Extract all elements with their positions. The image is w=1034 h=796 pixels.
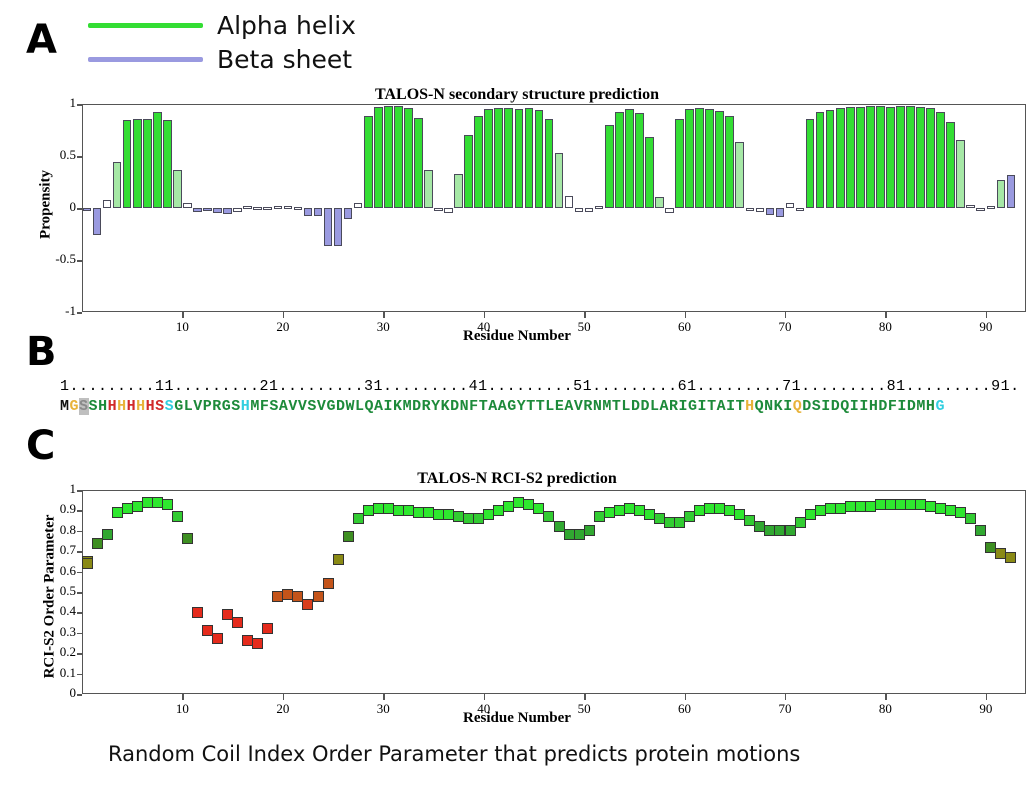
residue-letter: I <box>698 398 708 415</box>
residue-letter: H <box>745 398 755 415</box>
bar <box>926 108 935 208</box>
panel-a-x-tickmark <box>182 312 184 318</box>
data-point <box>182 533 193 544</box>
residue-letter: P <box>203 398 213 415</box>
data-point <box>162 499 173 510</box>
bar <box>294 207 303 210</box>
panel-c-x-axis-title: Residue Number <box>0 710 1034 727</box>
residue-letter: D <box>878 398 888 415</box>
legend-label-alpha-helix: Alpha helix <box>217 11 356 40</box>
bar <box>876 106 885 208</box>
bar <box>454 174 463 208</box>
bar <box>906 106 915 208</box>
residue-letter: D <box>450 398 460 415</box>
panel-a-y-tick-label: 0.5 <box>30 147 76 163</box>
residue-letter: T <box>612 398 622 415</box>
residue-letter: I <box>726 398 736 415</box>
panel-c-x-tickmark <box>484 694 486 700</box>
residue-letter: S <box>165 398 175 415</box>
bar <box>394 106 403 208</box>
bar <box>776 208 785 217</box>
bar <box>103 200 112 208</box>
residue-letter: A <box>564 398 574 415</box>
data-point <box>252 638 263 649</box>
sequence-panel: 1.........11.........21.........31......… <box>60 378 1020 420</box>
residue-letter: D <box>831 398 841 415</box>
panel-c-x-tickmark <box>785 694 787 700</box>
bar <box>374 107 383 208</box>
residue-letter: N <box>593 398 603 415</box>
bar <box>786 203 795 208</box>
residue-letter: T <box>536 398 546 415</box>
bar <box>123 120 132 208</box>
residue-letter: H <box>108 398 118 415</box>
bar <box>796 208 805 211</box>
panel-c-x-tickmark <box>685 694 687 700</box>
bar <box>504 108 513 208</box>
bar <box>203 208 212 211</box>
residue-letter: I <box>850 398 860 415</box>
sequence-ruler: 1.........11.........21.........31......… <box>60 378 1020 398</box>
bar <box>384 106 393 208</box>
data-point <box>965 513 976 524</box>
panel-a-bars <box>82 104 1026 312</box>
residue-letter: F <box>469 398 479 415</box>
residue-letter: R <box>212 398 222 415</box>
bar <box>886 107 895 208</box>
panel-c-x-tickmark <box>584 694 586 700</box>
bar <box>836 108 845 208</box>
residue-letter: V <box>317 398 327 415</box>
data-point <box>1005 552 1016 563</box>
residue-letter: V <box>193 398 203 415</box>
bar <box>274 206 283 209</box>
panel-c-y-tick-label: 0.5 <box>28 583 76 599</box>
bar <box>966 205 975 208</box>
bar <box>685 109 694 208</box>
residue-letter: D <box>412 398 422 415</box>
residue-letter: H <box>241 398 251 415</box>
bar <box>233 208 242 212</box>
residue-letter: K <box>393 398 403 415</box>
panel-c-y-tick-label: 0.2 <box>28 644 76 660</box>
bar <box>605 125 614 208</box>
panel-a-x-tickmark <box>584 312 586 318</box>
residue-letter: H <box>127 398 137 415</box>
bar <box>575 208 584 212</box>
bar <box>595 206 604 209</box>
bar <box>735 142 744 208</box>
data-point <box>102 529 113 540</box>
bar <box>695 108 704 208</box>
residue-letter: M <box>916 398 926 415</box>
bar <box>725 116 734 208</box>
bar <box>896 106 905 208</box>
legend-item-beta-sheet: Beta sheet <box>88 42 388 76</box>
bar <box>404 108 413 208</box>
residue-letter: H <box>146 398 156 415</box>
residue-letter: Y <box>431 398 441 415</box>
residue-letter: I <box>897 398 907 415</box>
bar <box>705 109 714 208</box>
residue-letter: V <box>298 398 308 415</box>
bar <box>525 108 534 208</box>
panel-a-letter: A <box>26 20 57 60</box>
panel-c-x-tickmark <box>986 694 988 700</box>
bar <box>464 135 473 208</box>
panel-a-y-tick-label: 0 <box>30 199 76 215</box>
bar <box>364 116 373 208</box>
residue-letter: D <box>802 398 812 415</box>
bar <box>675 119 684 208</box>
residue-letter: D <box>640 398 650 415</box>
panel-c-y-tick-label: 0.4 <box>28 603 76 619</box>
bar <box>856 107 865 208</box>
bar <box>756 208 765 212</box>
bar <box>474 116 483 208</box>
residue-letter: H <box>869 398 879 415</box>
residue-letter: I <box>679 398 689 415</box>
bar <box>946 122 955 208</box>
bar <box>223 208 232 214</box>
bar <box>253 207 262 210</box>
residue-letter: A <box>279 398 289 415</box>
bar <box>956 140 965 208</box>
residue-letter: M <box>250 398 260 415</box>
bar <box>414 118 423 208</box>
bar <box>715 111 724 208</box>
residue-letter: S <box>307 398 317 415</box>
residue-letter: T <box>479 398 489 415</box>
residue-letter: A <box>498 398 508 415</box>
panel-c-y-tick-label: 0.1 <box>28 665 76 681</box>
residue-letter: S <box>89 398 99 415</box>
residue-letter: Y <box>517 398 527 415</box>
bar <box>434 208 443 211</box>
residue-letter: D <box>907 398 917 415</box>
residue-letter: V <box>574 398 584 415</box>
bar <box>243 206 252 209</box>
residue-letter: W <box>345 398 355 415</box>
panel-c-title: TALOS-N RCI-S2 prediction <box>0 470 1034 488</box>
residue-letter: L <box>545 398 555 415</box>
bar <box>284 206 293 209</box>
residue-letter: G <box>70 398 80 415</box>
alpha-helix-swatch <box>88 23 203 28</box>
residue-letter: A <box>659 398 669 415</box>
residue-letter: L <box>184 398 194 415</box>
panel-a-x-tickmark <box>283 312 285 318</box>
data-point <box>232 617 243 628</box>
bar <box>515 109 524 208</box>
residue-letter: S <box>269 398 279 415</box>
bar <box>213 208 222 213</box>
panel-c-y-tickmark <box>77 694 82 696</box>
data-point <box>975 525 986 536</box>
bar <box>655 197 664 208</box>
residue-letter: A <box>374 398 384 415</box>
residue-letter: K <box>774 398 784 415</box>
data-point <box>313 591 324 602</box>
residue-letter: I <box>384 398 394 415</box>
bar <box>987 206 996 209</box>
bar <box>83 208 92 211</box>
bar <box>846 107 855 208</box>
bar <box>183 203 192 208</box>
bar <box>936 112 945 208</box>
bar <box>163 120 172 208</box>
bar <box>866 106 875 208</box>
residue-letter: G <box>222 398 232 415</box>
beta-sheet-swatch <box>88 57 203 62</box>
bar <box>494 108 503 208</box>
panel-a-x-tickmark <box>383 312 385 318</box>
bar <box>665 208 674 213</box>
residue-letter: M <box>403 398 413 415</box>
panel-a-x-tickmark <box>685 312 687 318</box>
bar <box>93 208 102 235</box>
panel-c-y-tick-label: 0.7 <box>28 542 76 558</box>
data-point <box>192 607 203 618</box>
residue-letter: R <box>669 398 679 415</box>
bar <box>484 109 493 208</box>
panel-c-y-tick-label: 0.9 <box>28 501 76 517</box>
panel-a-y-tick-label: -0.5 <box>30 251 76 267</box>
bar <box>133 119 142 208</box>
residue-letter: H <box>926 398 936 415</box>
panel-a-x-tickmark <box>885 312 887 318</box>
residue-letter: I <box>859 398 869 415</box>
bar <box>565 196 574 208</box>
residue-letter: K <box>441 398 451 415</box>
panel-a-x-tickmark <box>484 312 486 318</box>
bar <box>555 153 564 208</box>
panel-a-y-tickmark <box>77 312 82 314</box>
panel-c-letter: C <box>26 426 55 466</box>
panel-c-points <box>82 490 1026 694</box>
residue-letter: S <box>155 398 165 415</box>
residue-letter: N <box>764 398 774 415</box>
residue-letter: E <box>555 398 565 415</box>
bar <box>344 208 353 219</box>
legend-item-alpha-helix: Alpha helix <box>88 8 388 42</box>
residue-letter: I <box>821 398 831 415</box>
bar <box>997 180 1006 208</box>
bar <box>304 208 313 216</box>
residue-letter: H <box>117 398 127 415</box>
residue-letter: R <box>583 398 593 415</box>
data-point <box>333 554 344 565</box>
residue-letter: V <box>288 398 298 415</box>
residue-letter: R <box>422 398 432 415</box>
residue-letter: I <box>783 398 793 415</box>
bar <box>113 162 122 208</box>
sequence-residues: MGSSHHHHHHSSGLVPRGSHMFSAVVSVGDWLQAIKMDRY… <box>60 398 1020 420</box>
data-point <box>584 525 595 536</box>
residue-letter: T <box>736 398 746 415</box>
bar <box>766 208 775 215</box>
bar <box>143 119 152 208</box>
residue-letter: Q <box>365 398 375 415</box>
data-point <box>212 633 223 644</box>
residue-letter: G <box>507 398 517 415</box>
residue-letter: N <box>460 398 470 415</box>
panel-c-y-tick-label: 0 <box>28 685 76 701</box>
panel-a-y-tick-label: -1 <box>30 303 76 319</box>
bar <box>334 208 343 246</box>
panel-c-y-tick-label: 0.6 <box>28 563 76 579</box>
data-point <box>343 531 354 542</box>
bar <box>173 170 182 208</box>
residue-letter: T <box>526 398 536 415</box>
panel-c-y-tick-label: 0.3 <box>28 624 76 640</box>
legend: Alpha helix Beta sheet <box>88 8 388 76</box>
panel-a-x-tickmark <box>785 312 787 318</box>
bar <box>645 137 654 208</box>
data-point <box>172 511 183 522</box>
residue-letter: G <box>326 398 336 415</box>
residue-letter: G <box>935 398 945 415</box>
panel-c-x-tickmark <box>283 694 285 700</box>
residue-letter: S <box>79 398 89 415</box>
panel-a-x-tickmark <box>986 312 988 318</box>
data-point <box>82 558 93 569</box>
bar <box>746 208 755 211</box>
data-point <box>323 578 334 589</box>
data-point <box>262 623 273 634</box>
residue-letter: H <box>98 398 108 415</box>
bar <box>444 208 453 213</box>
bar <box>585 208 594 212</box>
residue-letter: S <box>812 398 822 415</box>
bar <box>314 208 323 216</box>
bar <box>615 112 624 208</box>
bar <box>535 110 544 208</box>
residue-letter: M <box>602 398 612 415</box>
bar <box>424 170 433 208</box>
residue-letter: H <box>136 398 146 415</box>
panel-a-x-axis-title: Residue Number <box>0 328 1034 345</box>
bar <box>263 207 272 210</box>
panel-c-y-tick-label: 1 <box>28 481 76 497</box>
bar <box>545 119 554 208</box>
bar <box>806 119 815 208</box>
bar <box>153 112 162 208</box>
residue-letter: A <box>488 398 498 415</box>
panel-c-x-tickmark <box>383 694 385 700</box>
bar <box>625 109 634 208</box>
residue-letter: Q <box>755 398 765 415</box>
panel-c-x-tickmark <box>182 694 184 700</box>
residue-letter: Q <box>840 398 850 415</box>
residue-letter: L <box>621 398 631 415</box>
panel-a-title: TALOS-N secondary structure prediction <box>0 86 1034 104</box>
bar <box>916 107 925 208</box>
residue-letter: G <box>174 398 184 415</box>
legend-label-beta-sheet: Beta sheet <box>217 45 352 74</box>
residue-letter: M <box>60 398 70 415</box>
panel-c-y-tick-label: 0.8 <box>28 522 76 538</box>
bar <box>635 113 644 208</box>
bar <box>1007 175 1016 208</box>
panel-a-y-tick-label: 1 <box>30 95 76 111</box>
bar <box>976 208 985 211</box>
panel-c-x-tickmark <box>885 694 887 700</box>
bar <box>193 208 202 212</box>
bar <box>354 203 363 208</box>
residue-letter: A <box>717 398 727 415</box>
bar <box>324 208 333 246</box>
bar <box>826 110 835 208</box>
residue-letter: F <box>260 398 270 415</box>
residue-letter: Q <box>793 398 803 415</box>
residue-letter: S <box>231 398 241 415</box>
residue-letter: F <box>888 398 898 415</box>
residue-letter: L <box>355 398 365 415</box>
figure-caption: Random Coil Index Order Parameter that p… <box>108 742 800 766</box>
residue-letter: T <box>707 398 717 415</box>
bar <box>816 112 825 208</box>
residue-letter: G <box>688 398 698 415</box>
